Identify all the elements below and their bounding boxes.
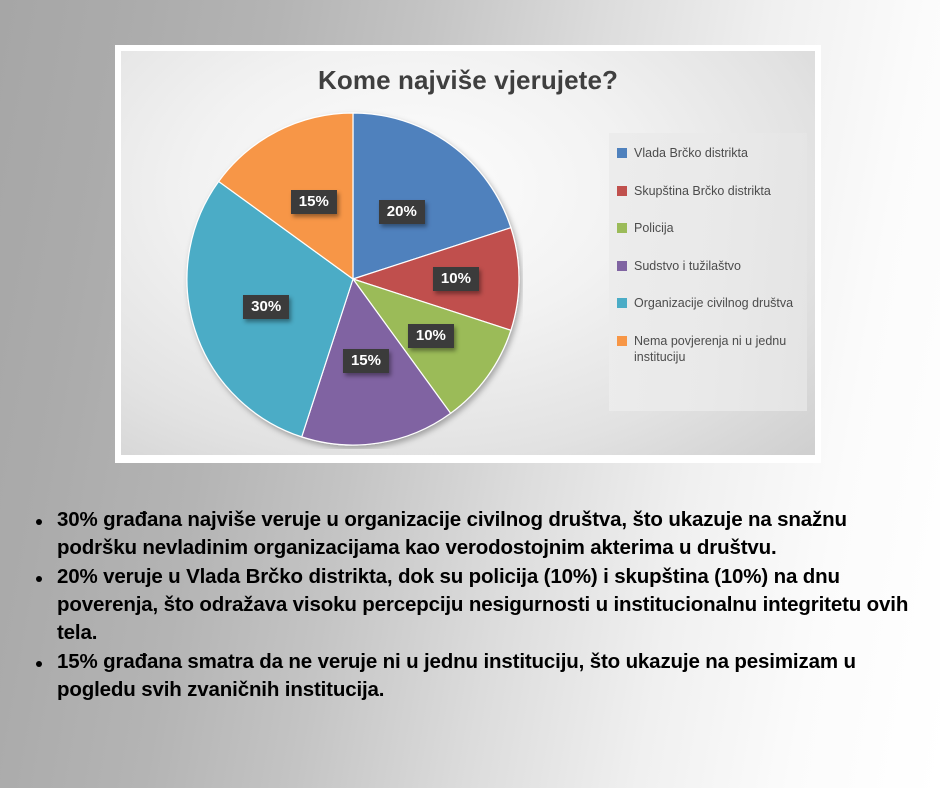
pie-data-label: 20% xyxy=(379,200,425,224)
legend-item-label: Sudstvo i tužilaštvo xyxy=(634,258,741,275)
chart-title: Kome najviše vjerujete? xyxy=(121,65,815,96)
legend-item-label: Nema povjerenja ni u jednu instituciju xyxy=(634,333,799,366)
pie-data-label: 10% xyxy=(408,324,454,348)
bullet-text: 20% veruje u Vlada Brčko distrikta, dok … xyxy=(57,563,924,646)
bullet-item: 30% građana najviše veruje u organizacij… xyxy=(24,506,924,561)
legend-color-swatch xyxy=(617,261,627,271)
legend-color-swatch xyxy=(617,186,627,196)
bullet-marker-icon xyxy=(36,519,42,525)
pie-data-label: 10% xyxy=(433,267,479,291)
legend-item-label: Policija xyxy=(634,220,674,237)
legend-item-label: Skupština Brčko distrikta xyxy=(634,183,771,200)
chart-panel: Kome najviše vjerujete? 20%10%10%15%30%1… xyxy=(115,45,821,463)
legend-item[interactable]: Organizacije civilnog društva xyxy=(617,295,799,312)
bullet-item: 15% građana smatra da ne veruje ni u jed… xyxy=(24,648,924,703)
legend-color-swatch xyxy=(617,223,627,233)
legend-item[interactable]: Vlada Brčko distrikta xyxy=(617,145,799,162)
legend-item[interactable]: Skupština Brčko distrikta xyxy=(617,183,799,200)
pie-data-label: 15% xyxy=(291,190,337,214)
legend-item-label: Organizacije civilnog društva xyxy=(634,295,793,312)
bullet-text: 30% građana najviše veruje u organizacij… xyxy=(57,506,924,561)
legend-color-swatch xyxy=(617,336,627,346)
legend-color-swatch xyxy=(617,148,627,158)
pie-chart: 20%10%10%15%30%15% xyxy=(183,109,523,449)
legend-item[interactable]: Policija xyxy=(617,220,799,237)
bullet-marker-icon xyxy=(36,576,42,582)
chart-plot-area: Kome najviše vjerujete? 20%10%10%15%30%1… xyxy=(121,51,815,455)
bullet-marker-icon xyxy=(36,661,42,667)
bullet-text: 15% građana smatra da ne veruje ni u jed… xyxy=(57,648,924,703)
legend-color-swatch xyxy=(617,298,627,308)
legend-item[interactable]: Nema povjerenja ni u jednu instituciju xyxy=(617,333,799,366)
bullet-item: 20% veruje u Vlada Brčko distrikta, dok … xyxy=(24,563,924,646)
bullet-list: 30% građana najviše veruje u organizacij… xyxy=(24,506,924,706)
legend-item-label: Vlada Brčko distrikta xyxy=(634,145,748,162)
chart-legend: Vlada Brčko distriktaSkupština Brčko dis… xyxy=(609,133,807,411)
legend-item[interactable]: Sudstvo i tužilaštvo xyxy=(617,258,799,275)
pie-data-label: 15% xyxy=(343,349,389,373)
pie-data-label: 30% xyxy=(243,295,289,319)
